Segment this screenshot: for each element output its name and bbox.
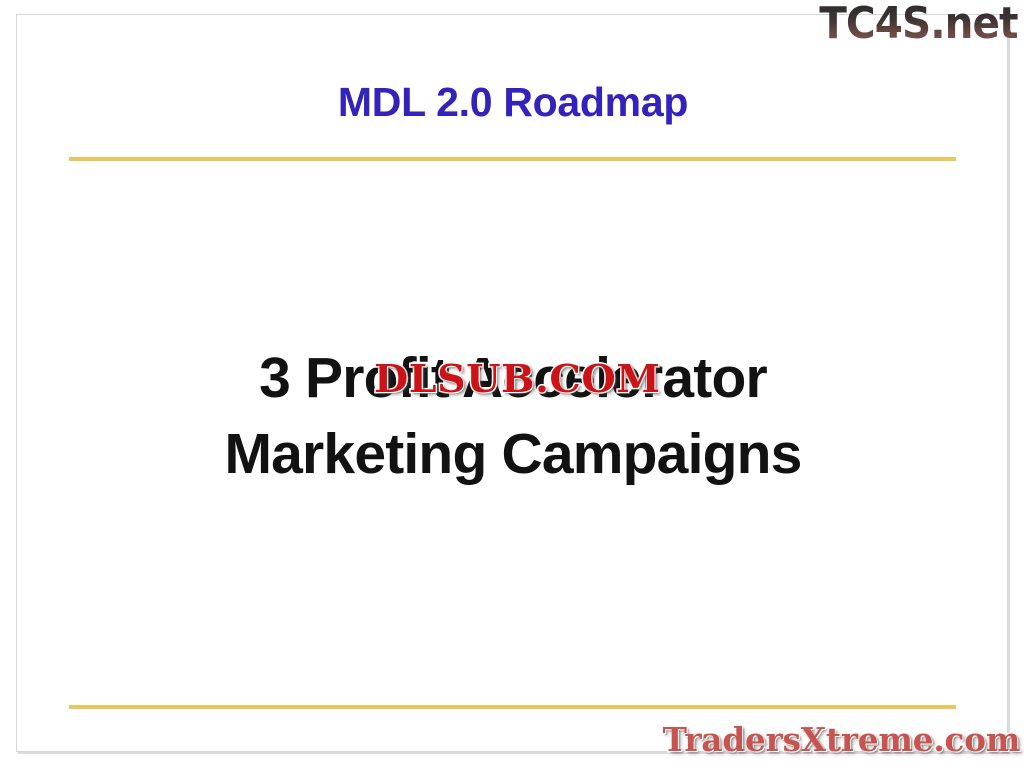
- body-line-2: Marketing Campaigns: [69, 416, 957, 492]
- slide-viewer: MDL 2.0 Roadmap 3 Profit Accelerator Mar…: [0, 0, 1024, 768]
- slide-canvas: MDL 2.0 Roadmap 3 Profit Accelerator Mar…: [16, 14, 1008, 752]
- page-title: MDL 2.0 Roadmap: [69, 77, 957, 127]
- divider-rule-top: [69, 157, 956, 161]
- divider-rule-bottom: [69, 705, 956, 709]
- slide-body-text: 3 Profit Accelerator Marketing Campaigns: [69, 340, 957, 492]
- body-line-1: 3 Profit Accelerator: [69, 340, 957, 416]
